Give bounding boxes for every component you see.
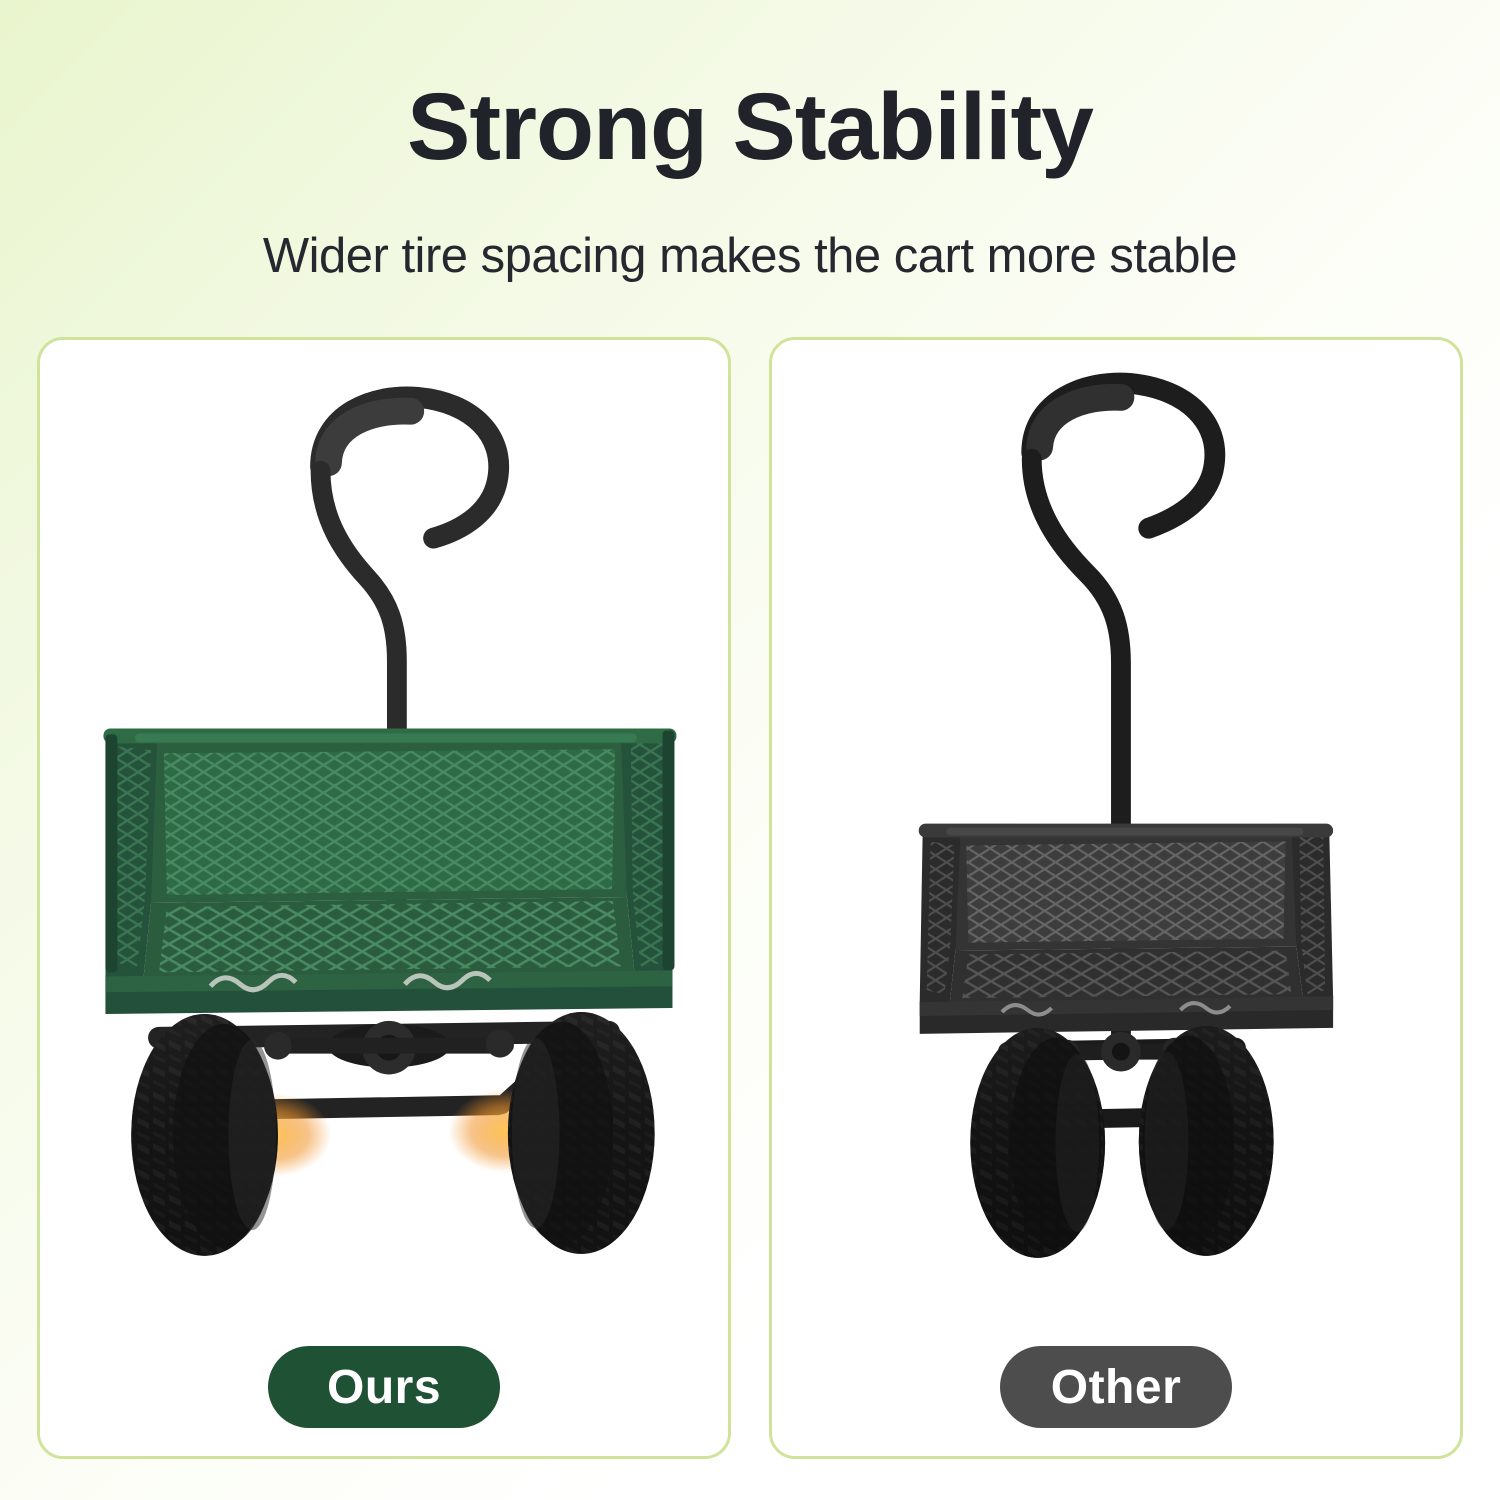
- page-subtitle: Wider tire spacing makes the cart more s…: [0, 228, 1500, 284]
- black-cart-illustration: [772, 340, 1460, 1456]
- badge-other: Other: [1000, 1346, 1232, 1428]
- product-image-other: [772, 340, 1460, 1456]
- badge-ours: Ours: [268, 1346, 500, 1428]
- tire-right-other: [1139, 1026, 1274, 1256]
- panel-other: Other: [769, 337, 1463, 1459]
- comparison-poster: Strong Stability Wider tire spacing make…: [0, 0, 1500, 1500]
- panel-ours: Ours: [37, 337, 731, 1459]
- cart-body-ours: [103, 728, 676, 1014]
- tire-left-other: [970, 1028, 1105, 1258]
- cart-body-other: [919, 824, 1333, 1034]
- comparison-panels: Ours: [37, 337, 1463, 1459]
- page-title: Strong Stability: [0, 78, 1500, 178]
- green-cart-illustration: [40, 340, 728, 1456]
- product-image-ours: [40, 340, 728, 1456]
